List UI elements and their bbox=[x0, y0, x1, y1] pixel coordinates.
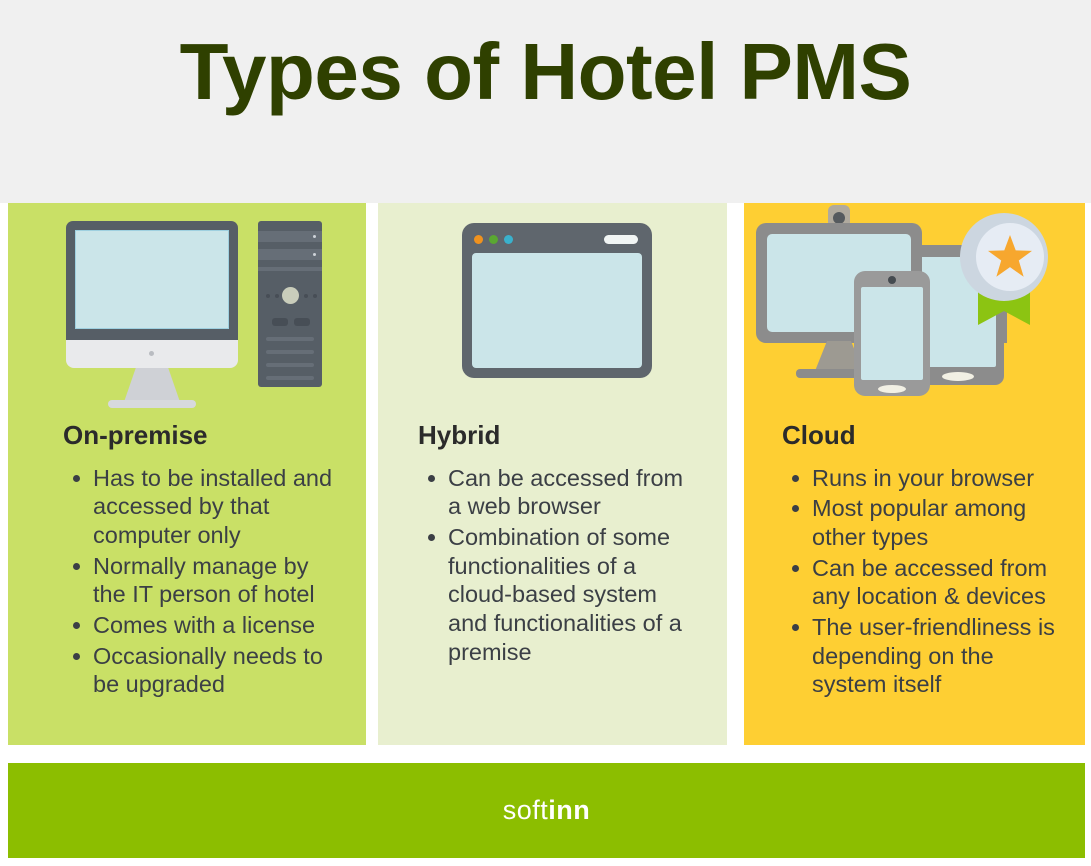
tower-port bbox=[272, 318, 288, 326]
badge-stick bbox=[1001, 308, 1007, 343]
tablet-home-button bbox=[942, 372, 974, 381]
tower-bay-dot bbox=[313, 253, 316, 256]
tower-vent-line bbox=[266, 337, 314, 341]
award-badge-icon bbox=[954, 213, 1054, 343]
monitor-chin bbox=[66, 340, 238, 368]
card-body-hybrid: Hybrid Can be accessed from a web browse… bbox=[378, 421, 727, 666]
smartphone-home-button bbox=[878, 385, 906, 393]
tower-led-dot bbox=[275, 294, 279, 298]
bullet-list-on-premise: Has to be installed and accessed by that… bbox=[63, 464, 340, 699]
smartphone-screen bbox=[861, 287, 923, 380]
monitor-indicator-dot bbox=[149, 351, 154, 356]
tower-bay-dot bbox=[313, 235, 316, 238]
tower-power-button-icon bbox=[282, 287, 299, 304]
tower-led-dot bbox=[304, 294, 308, 298]
logo-text-bold: inn bbox=[548, 795, 590, 825]
monitor-stand bbox=[124, 368, 180, 402]
badge-circle-outer bbox=[960, 213, 1048, 301]
desktop-monitor-icon bbox=[66, 221, 238, 349]
tower-vent-line bbox=[266, 350, 314, 354]
logo-text-light: soft bbox=[503, 795, 549, 825]
bullet-list-cloud: Runs in your browser Most popular among … bbox=[782, 464, 1059, 699]
card-hybrid[interactable]: Hybrid Can be accessed from a web browse… bbox=[378, 203, 727, 745]
footer-banner: softinn bbox=[8, 763, 1085, 858]
illustration-hybrid bbox=[378, 203, 727, 421]
cloud-devices-group bbox=[744, 203, 1085, 421]
card-heading-cloud: Cloud bbox=[782, 421, 1059, 450]
list-item: Has to be installed and accessed by that… bbox=[93, 464, 340, 550]
tower-divider bbox=[258, 267, 322, 271]
card-on-premise[interactable]: On-premise Has to be installed and acces… bbox=[8, 203, 366, 745]
brand-logo[interactable]: softinn bbox=[503, 797, 591, 824]
tower-led-dot bbox=[313, 294, 317, 298]
header-banner: Types of Hotel PMS bbox=[0, 0, 1091, 203]
list-item: Normally manage by the IT person of hote… bbox=[93, 552, 340, 609]
list-item: The user-friendliness is depending on th… bbox=[812, 613, 1059, 699]
card-body-cloud: Cloud Runs in your browser Most popular … bbox=[744, 421, 1085, 699]
tower-drive-bay bbox=[258, 231, 322, 242]
browser-dot-orange-icon bbox=[474, 235, 483, 244]
card-body-on-premise: On-premise Has to be installed and acces… bbox=[8, 421, 366, 699]
browser-content-area bbox=[472, 253, 642, 368]
list-item: Can be accessed from any location & devi… bbox=[812, 554, 1059, 611]
smartphone-camera bbox=[888, 276, 896, 284]
tower-vent-line bbox=[266, 376, 314, 380]
browser-window-icon bbox=[462, 223, 652, 378]
illustration-on-premise bbox=[8, 203, 366, 421]
bullet-list-hybrid: Can be accessed from a web browser Combi… bbox=[418, 464, 701, 667]
browser-dot-blue-icon bbox=[504, 235, 513, 244]
columns-band: On-premise Has to be installed and acces… bbox=[0, 203, 1091, 745]
tower-vent-line bbox=[266, 363, 314, 367]
tower-port bbox=[294, 318, 310, 326]
page-title: Types of Hotel PMS bbox=[180, 32, 912, 112]
computer-tower-icon bbox=[258, 221, 322, 387]
list-item: Runs in your browser bbox=[812, 464, 1059, 493]
list-item: Can be accessed from a web browser bbox=[448, 464, 701, 521]
tower-led-dot bbox=[266, 294, 270, 298]
card-heading-on-premise: On-premise bbox=[63, 421, 340, 450]
browser-dot-green-icon bbox=[489, 235, 498, 244]
infographic-root: Types of Hotel PMS bbox=[0, 0, 1091, 866]
list-item: Occasionally needs to be upgraded bbox=[93, 642, 340, 699]
illustration-cloud bbox=[744, 203, 1085, 421]
monitor-screen bbox=[75, 230, 229, 329]
list-item: Comes with a license bbox=[93, 611, 340, 640]
browser-address-pill bbox=[604, 235, 638, 244]
card-heading-hybrid: Hybrid bbox=[418, 421, 701, 450]
tower-drive-bay bbox=[258, 249, 322, 260]
monitor-base bbox=[108, 400, 196, 408]
card-cloud[interactable]: Cloud Runs in your browser Most popular … bbox=[744, 203, 1085, 745]
smartphone-icon bbox=[854, 271, 930, 396]
list-item: Combination of some functionalities of a… bbox=[448, 523, 701, 666]
list-item: Most popular among other types bbox=[812, 494, 1059, 551]
